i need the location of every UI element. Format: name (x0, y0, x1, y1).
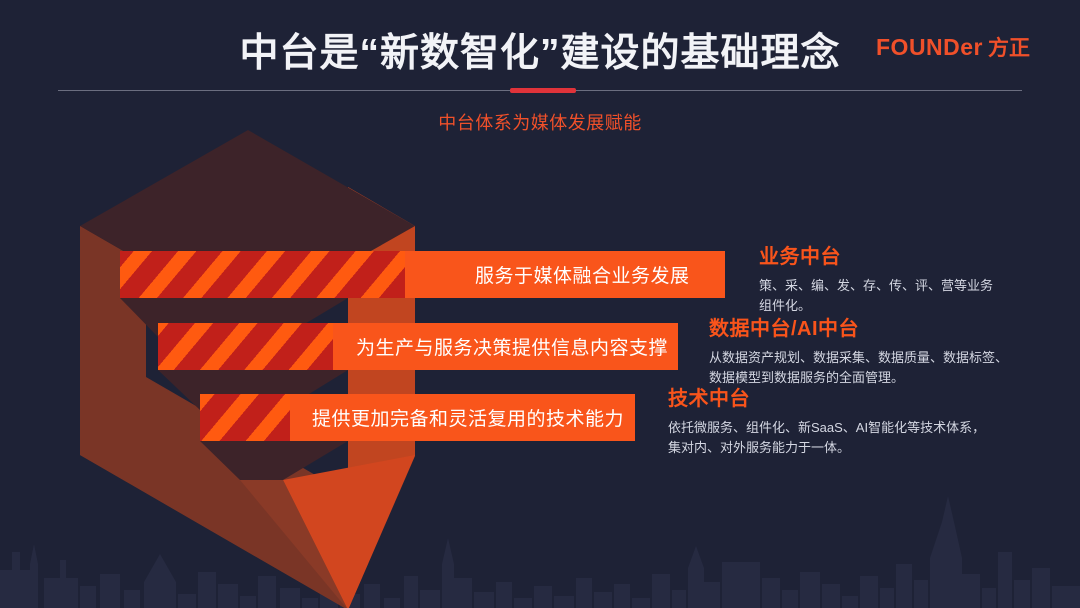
info-heading: 技术中台 (668, 382, 1068, 411)
funnel-bar-hatch (200, 394, 290, 441)
info-body: 依托微服务、组件化、新SaaS、AI智能化等技术体系， 集对内、对外服务能力于一… (668, 418, 1068, 458)
funnel-bar-hatch (120, 251, 405, 298)
funnel-bar-business[interactable]: 服务于媒体融合业务发展 (120, 251, 725, 298)
info-block-tech-platform: 技术中台 依托微服务、组件化、新SaaS、AI智能化等技术体系， 集对内、对外服… (668, 382, 1068, 458)
funnel-bar-hatch (158, 323, 333, 370)
funnel-bar-label: 服务于媒体融合业务发展 (475, 261, 690, 288)
funnel-bar-tech[interactable]: 提供更加完备和灵活复用的技术能力 (200, 394, 635, 441)
funnel-bar-data[interactable]: 为生产与服务决策提供信息内容支撑 (158, 323, 678, 370)
info-body: 策、采、编、发、存、传、评、营等业务 组件化。 (759, 276, 1059, 316)
presentation-slide: 中台是“新数智化”建设的基础理念 FOUNDer 方正 中台体系为媒体发展赋能 … (0, 0, 1080, 608)
funnel-bar-label: 提供更加完备和灵活复用的技术能力 (312, 404, 624, 431)
info-heading: 数据中台/AI中台 (709, 312, 1069, 341)
info-block-business-platform: 业务中台 策、采、编、发、存、传、评、营等业务 组件化。 (759, 240, 1059, 316)
info-block-data-ai-platform: 数据中台/AI中台 从数据资产规划、数据采集、数据质量、数据标签、 数据模型到数… (709, 312, 1069, 388)
funnel-bar-label: 为生产与服务决策提供信息内容支撑 (356, 333, 668, 360)
info-heading: 业务中台 (759, 240, 1059, 269)
